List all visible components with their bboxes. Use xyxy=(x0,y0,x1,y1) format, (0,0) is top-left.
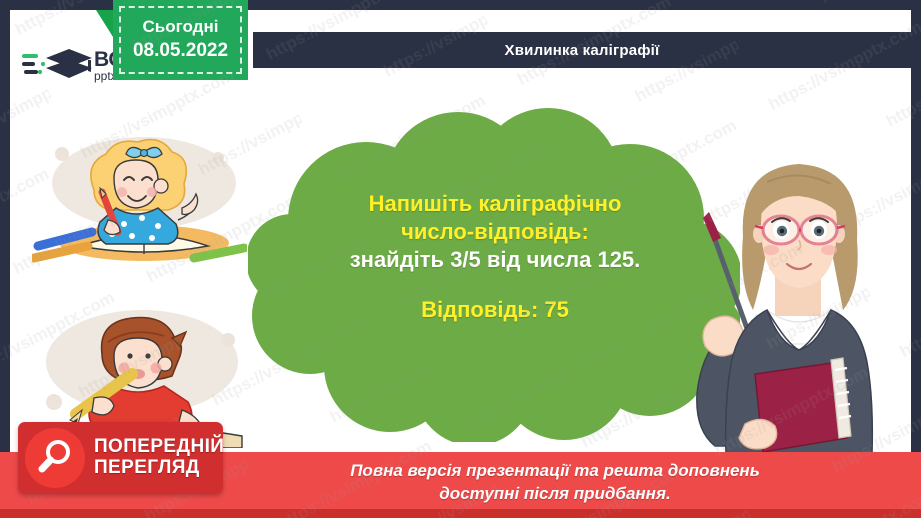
preview-line-2: ПЕРЕГЛЯД xyxy=(94,458,224,479)
today-date-badge: Сьогодні 08.05.2022 xyxy=(113,0,248,80)
cloud-shape xyxy=(248,102,740,442)
girl-writing-illustration xyxy=(32,128,247,263)
banner-line-1: Повна версія презентації та решта доповн… xyxy=(255,460,855,483)
speech-cloud xyxy=(248,102,740,442)
preview-badge[interactable]: ПОПЕРЕДНІЙ ПЕРЕГЛЯД xyxy=(18,422,223,494)
slide-root: ВСІМ pptx xyxy=(0,0,921,518)
preview-badge-label: ПОПЕРЕДНІЙ ПЕРЕГЛЯД xyxy=(94,437,224,478)
banner-foot-strip xyxy=(0,509,921,518)
header-bar: Хвилинка каліграфії xyxy=(253,32,911,68)
magnifier-icon xyxy=(25,428,85,488)
today-value: 08.05.2022 xyxy=(133,40,228,63)
today-label: Сьогодні xyxy=(143,17,219,37)
teacher-illustration xyxy=(671,138,899,478)
banner-text: Повна версія презентації та решта доповн… xyxy=(255,460,855,506)
preview-line-1: ПОПЕРЕДНІЙ xyxy=(94,437,224,458)
page-title: Хвилинка каліграфії xyxy=(505,42,660,59)
banner-line-2: доступні після придбання. xyxy=(255,483,855,506)
